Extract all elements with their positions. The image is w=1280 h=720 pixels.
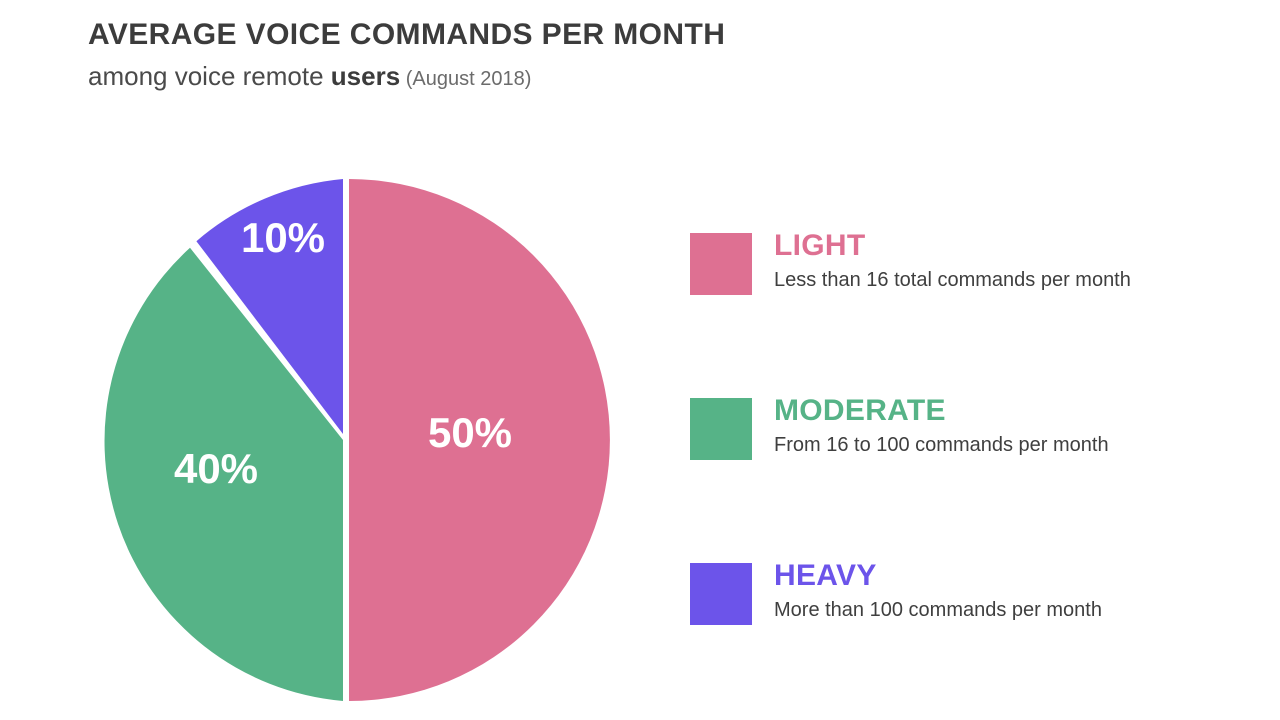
legend-text-light: LIGHT Less than 16 total commands per mo…	[774, 228, 1224, 293]
legend-description-moderate: From 16 to 100 commands per month	[774, 432, 1224, 458]
legend-text-moderate: MODERATE From 16 to 100 commands per mon…	[774, 393, 1224, 458]
chart-legend: LIGHT Less than 16 total commands per mo…	[690, 228, 1230, 638]
legend-item-light[interactable]: LIGHT Less than 16 total commands per mo…	[690, 228, 1230, 308]
legend-description-heavy: More than 100 commands per month	[774, 597, 1224, 623]
legend-item-moderate[interactable]: MODERATE From 16 to 100 commands per mon…	[690, 393, 1230, 473]
legend-text-heavy: HEAVY More than 100 commands per month	[774, 558, 1224, 623]
chart-page: AVERAGE VOICE COMMANDS PER MONTH among v…	[0, 0, 1280, 720]
legend-label-heavy: HEAVY	[774, 558, 1224, 594]
subtitle-regular-text: among voice remote	[88, 61, 331, 91]
legend-label-light: LIGHT	[774, 228, 1224, 264]
subtitle-period-text: (August 2018)	[400, 68, 531, 90]
legend-item-heavy[interactable]: HEAVY More than 100 commands per month	[690, 558, 1230, 638]
page-title: AVERAGE VOICE COMMANDS PER MONTH	[88, 14, 1188, 56]
legend-description-light: Less than 16 total commands per month	[774, 267, 1224, 293]
pie-label-moderate: 40%	[174, 445, 258, 492]
page-subtitle: among voice remote users (August 2018)	[88, 58, 1188, 97]
legend-swatch-light-icon	[690, 233, 752, 295]
legend-label-moderate: MODERATE	[774, 393, 1224, 429]
pie-chart-svg: 50% 40% 10%	[80, 168, 620, 720]
pie-label-light: 50%	[428, 409, 512, 456]
pie-label-heavy: 10%	[241, 214, 325, 261]
legend-swatch-moderate-icon	[690, 398, 752, 460]
chart-header: AVERAGE VOICE COMMANDS PER MONTH among v…	[88, 14, 1188, 97]
pie-chart: 50% 40% 10%	[80, 168, 620, 720]
legend-swatch-heavy-icon	[690, 563, 752, 625]
subtitle-bold-text: users	[331, 61, 400, 91]
